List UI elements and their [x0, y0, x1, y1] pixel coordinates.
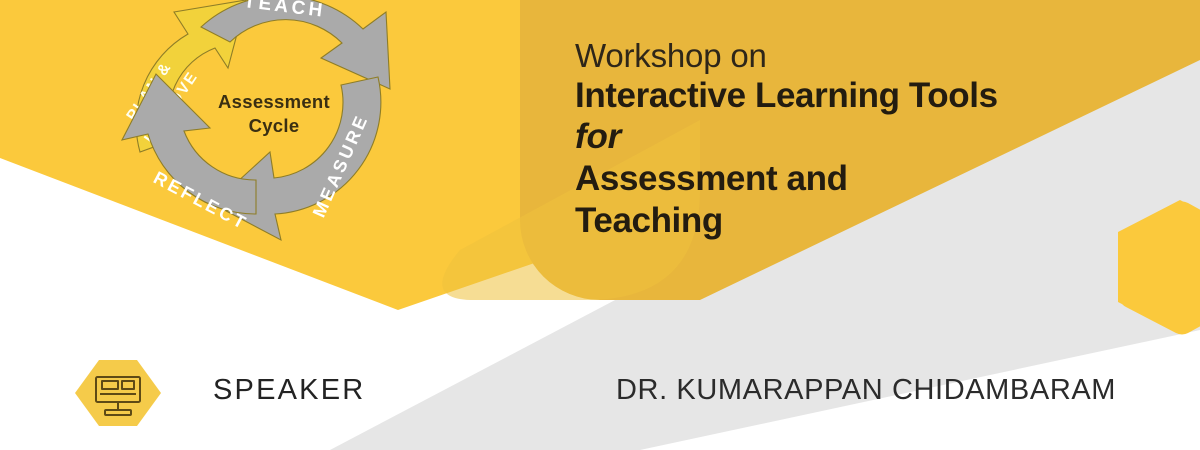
- headline-line-4: Assessment and: [575, 158, 1145, 199]
- headline-line-1: Workshop on: [575, 38, 1145, 75]
- headline-line-2: Interactive Learning Tools: [575, 75, 1145, 116]
- headline-line-3: for: [575, 116, 1145, 158]
- speaker-label: SPEAKER: [213, 374, 365, 407]
- speaker-row: SPEAKER DR. KUMARAPPAN CHIDAMBARAM: [0, 352, 1200, 432]
- assessment-cycle-diagram: PLAN & IMPROVE TEACH MEASURE REFLECT Ass…: [78, 0, 468, 257]
- headline-line-5: Teaching: [575, 200, 1145, 241]
- monitor-screen-block-right: [122, 381, 134, 389]
- cycle-center-title-line2: Cycle: [249, 115, 300, 136]
- event-banner: PLAN & IMPROVE TEACH MEASURE REFLECT Ass…: [0, 0, 1200, 450]
- monitor-screen-block-left: [102, 381, 118, 389]
- headline-block: Workshop on Interactive Learning Tools f…: [575, 38, 1145, 241]
- desktop-monitor-icon: [72, 357, 164, 429]
- speaker-name: DR. KUMARAPPAN CHIDAMBARAM: [616, 374, 1116, 407]
- cycle-center-title-line1: Assessment: [218, 91, 330, 112]
